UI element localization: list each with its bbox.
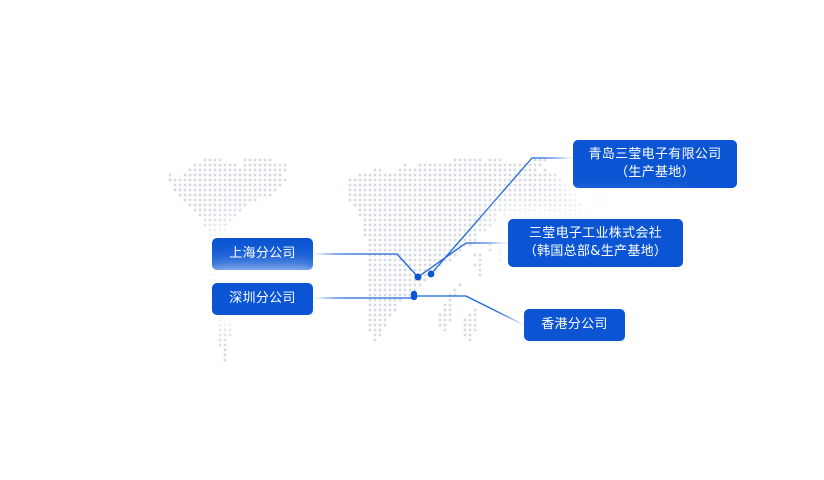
qingdao-marker: [428, 271, 435, 278]
callout-qingdao[interactable]: 青岛三莹电子有限公司 （生产基地）: [573, 140, 737, 188]
hongkong-marker: [411, 294, 417, 300]
leader-lines-layer: [0, 0, 824, 480]
callout-hongkong-line1: 香港分公司: [541, 316, 608, 334]
callout-korea-line1: 三莹电子工业株式会社: [529, 225, 662, 243]
callout-shanghai-line1: 上海分公司: [229, 245, 296, 263]
callout-korea[interactable]: 三莹电子工业株式会社 （韩国总部&生产基地）: [508, 219, 683, 267]
callout-hongkong[interactable]: 香港分公司: [524, 309, 625, 341]
shanghai-marker: [415, 274, 422, 281]
callout-shenzhen[interactable]: 深圳分公司: [212, 283, 313, 315]
shanghai-line: [313, 254, 418, 277]
callout-korea-line2: （韩国总部&生产基地）: [524, 243, 667, 261]
callout-qingdao-line2: （生产基地）: [615, 164, 695, 182]
world-map-infographic: 青岛三莹电子有限公司 （生产基地） 三莹电子工业株式会社 （韩国总部&生产基地）…: [0, 0, 824, 480]
hongkong-line: [414, 296, 524, 325]
callout-shanghai[interactable]: 上海分公司: [212, 238, 313, 270]
callout-qingdao-line1: 青岛三莹电子有限公司: [588, 146, 721, 164]
callout-shenzhen-line1: 深圳分公司: [229, 290, 296, 308]
